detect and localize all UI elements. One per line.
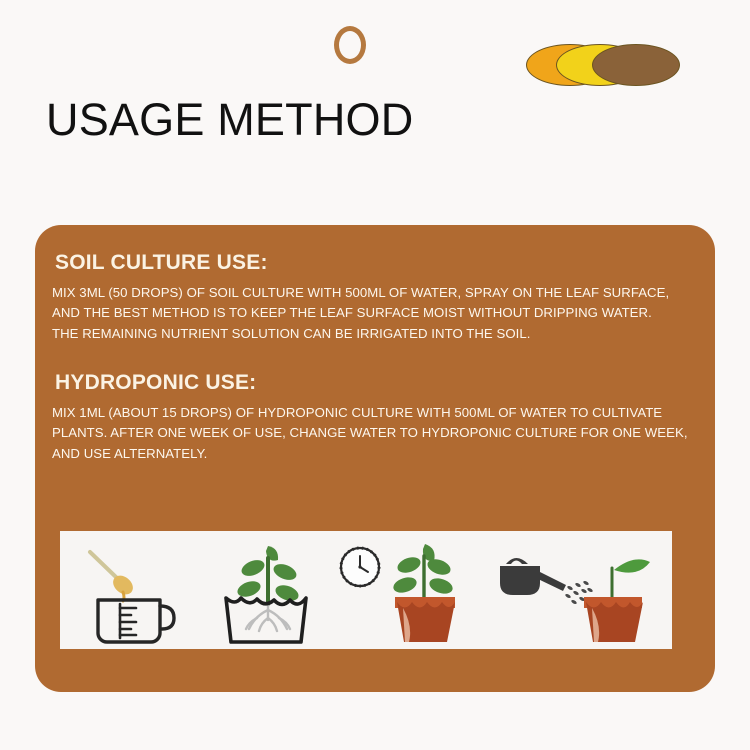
section-heading-hydroponic: HYDROPONIC USE: (55, 371, 715, 394)
body-line: PLANTS. AFTER ONE WEEK OF USE, CHANGE WA… (52, 423, 693, 443)
section-hydroponic: HYDROPONIC USE: MIX 1ML (ABOUT 15 DROPS)… (35, 371, 715, 464)
seedling-leaf-icon (614, 559, 650, 572)
plant-roots-in-water-basin-icon (209, 538, 329, 646)
step-2 (209, 534, 329, 646)
illustration-panel (60, 531, 672, 649)
watering-can-and-seedling-pot-icon (488, 538, 658, 646)
body-line: MIX 3ML (50 DROPS) OF SOIL CULTURE WITH … (52, 283, 693, 303)
dropper-icon (90, 552, 137, 601)
page-title: USAGE METHOD (46, 97, 413, 142)
watering-can-icon (500, 558, 566, 595)
ring-circle-icon (334, 26, 366, 64)
plant-roots-icon (246, 604, 290, 631)
body-line: THE REMAINING NUTRIENT SOLUTION CAN BE I… (52, 324, 693, 344)
section-body-hydroponic: MIX 1ML (ABOUT 15 DROPS) OF HYDROPONIC C… (52, 403, 693, 464)
section-body-soil: MIX 3ML (50 DROPS) OF SOIL CULTURE WITH … (52, 283, 693, 344)
body-line: AND THE BEST METHOD IS TO KEEP THE LEAF … (52, 303, 693, 323)
step-1 (74, 534, 204, 646)
section-soil-culture: SOIL CULTURE USE: MIX 3ML (50 DROPS) OF … (35, 251, 715, 344)
ellipse-cluster (526, 44, 706, 90)
terracotta-pot-icon (395, 597, 455, 642)
cup-graduation-marks (120, 608, 136, 635)
dropper-and-measuring-cup-icon (74, 538, 204, 646)
ellipse-brown-icon (592, 44, 680, 86)
clock-and-potted-plant-icon (333, 538, 483, 646)
section-heading-soil: SOIL CULTURE USE: (55, 251, 715, 274)
usage-card: SOIL CULTURE USE: MIX 3ML (50 DROPS) OF … (35, 225, 715, 692)
body-line: MIX 1ML (ABOUT 15 DROPS) OF HYDROPONIC C… (52, 403, 693, 423)
seedling-pot-icon (584, 597, 643, 642)
step-4 (488, 534, 658, 646)
body-line: AND USE ALTERNATELY. (52, 444, 693, 464)
poster-root: USAGE METHOD SOIL CULTURE USE: MIX 3ML (… (0, 0, 750, 750)
step-3 (333, 534, 483, 646)
clock-icon (341, 548, 379, 586)
